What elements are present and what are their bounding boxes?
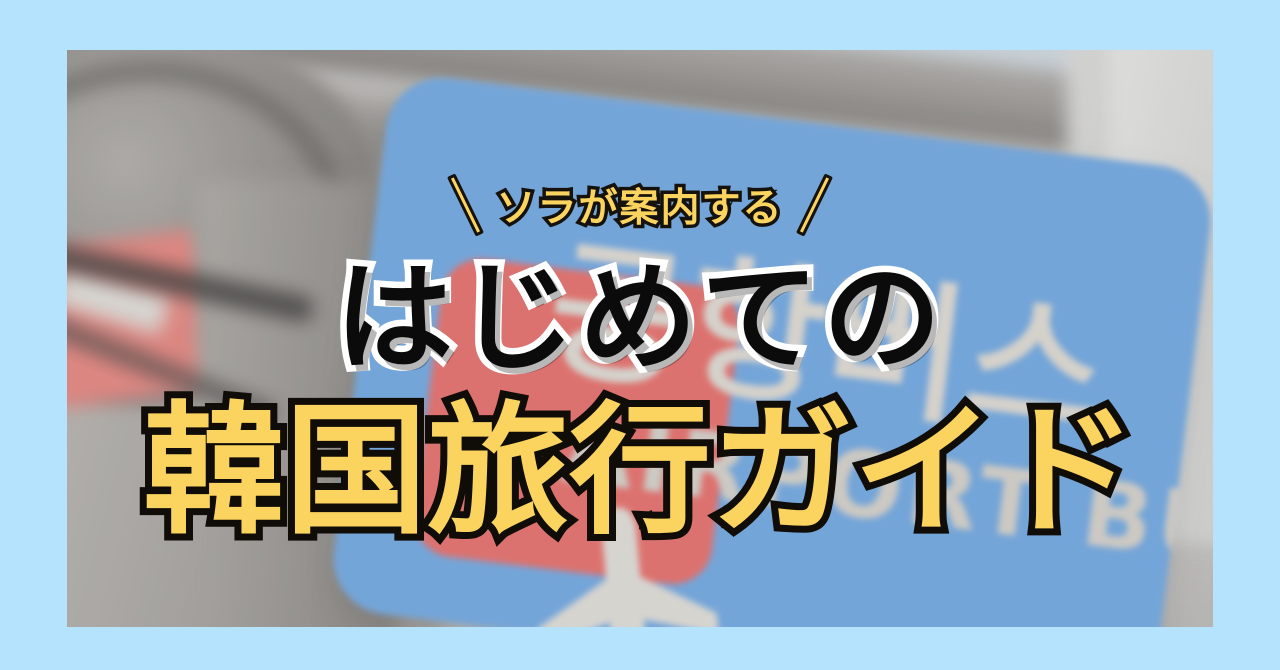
outer-frame: 공항버스 AIRPORT BUS ソラが案内する はじめての 韓国旅行ガイド: [0, 0, 1280, 670]
background-photo: 공항버스 AIRPORT BUS ソラが案内する はじめての 韓国旅行ガイド: [67, 50, 1213, 627]
